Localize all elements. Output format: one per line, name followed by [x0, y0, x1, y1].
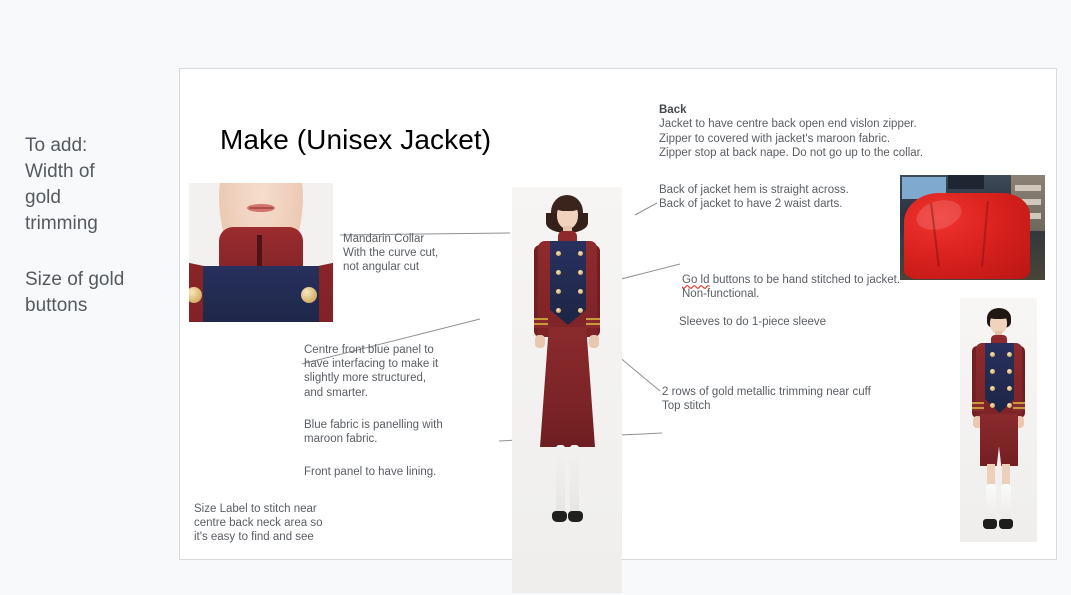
annotation-gold-buttons-misspelled: Go ld [682, 274, 710, 286]
photo-boy-full-length [960, 298, 1037, 542]
annotation-cuff-trimming: 2 rows of gold metallic trimming near cu… [662, 385, 922, 413]
gold-button [556, 308, 561, 313]
sidebar-note-button-size: Size of gold buttons [25, 267, 124, 319]
slide-title: Make (Unisex Jacket) [220, 124, 491, 156]
boy-fringe [988, 311, 1009, 319]
annotation-back-heading: Back [659, 104, 687, 116]
photo-girl-full-length [512, 187, 622, 593]
gold-button [556, 270, 561, 275]
gold-button [990, 403, 995, 408]
annotation-sleeves: Sleeves to do 1-piece sleeve [679, 315, 939, 329]
girl-hand-left [535, 335, 545, 348]
gold-button [578, 289, 583, 294]
girl-skirt [540, 327, 595, 447]
girl-cuff-gold-trim-left [534, 318, 548, 328]
gold-button [1007, 386, 1012, 391]
boy-sock-right [1001, 484, 1011, 522]
sidebar-note-to-add: To add: Width of gold trimming [25, 133, 98, 237]
gold-button [556, 251, 561, 256]
annotation-mandarin-collar: Mandarin Collar With the curve cut, not … [343, 232, 493, 275]
boy-sock-left [986, 484, 996, 522]
boy-shoe-right [999, 519, 1013, 529]
gold-button [990, 369, 995, 374]
girl-shoe-left [552, 511, 567, 522]
boy-shoe-left [983, 519, 997, 529]
girl-fringe [555, 200, 580, 211]
girl-cuff-gold-trim-right [586, 318, 600, 328]
girl-shoe-right [568, 511, 583, 522]
gold-button [990, 386, 995, 391]
photo-collar-closeup [189, 183, 333, 322]
gold-button [1007, 403, 1012, 408]
gold-button [1007, 369, 1012, 374]
annotation-zipper-stop: Zipper stop at back nape. Do not go up t… [659, 146, 959, 160]
gold-button [990, 352, 995, 357]
annotation-centre-front-panel: Centre front blue panel to have interfac… [304, 343, 484, 400]
annotation-gold-buttons-rest: buttons to be hand stitched to jacket. N… [682, 274, 900, 300]
collar-notch [257, 235, 262, 267]
gold-button [556, 289, 561, 294]
annotation-hem-and-darts: Back of jacket hem is straight across. B… [659, 183, 959, 211]
girl-leg-right [570, 445, 579, 515]
gold-button [578, 270, 583, 275]
annotation-front-panel-lining: Front panel to have lining. [304, 465, 504, 479]
annotation-size-label: Size Label to stitch near centre back ne… [194, 502, 374, 545]
model-lips [247, 204, 275, 212]
gold-button [301, 287, 317, 303]
boy-cuff-gold-trim-right [1013, 402, 1025, 411]
slide-canvas: Make (Unisex Jacket) [179, 68, 1057, 560]
gold-button [578, 308, 583, 313]
gold-button [1007, 352, 1012, 357]
collar-photo-content [189, 183, 333, 322]
girl-leg-left [556, 445, 565, 515]
annotation-blue-fabric-panelling: Blue fabric is panelling with maroon fab… [304, 418, 484, 446]
gold-button [578, 251, 583, 256]
annotation-gold-buttons: Go ld buttons to be hand stitched to jac… [682, 259, 962, 302]
slide-viewer: To add: Width of gold trimming Size of g… [0, 0, 1071, 595]
boy-cuff-gold-trim-left [972, 402, 984, 411]
girl-hand-right [589, 335, 599, 348]
annotation-back-body: Jacket to have centre back open end visl… [659, 117, 959, 145]
